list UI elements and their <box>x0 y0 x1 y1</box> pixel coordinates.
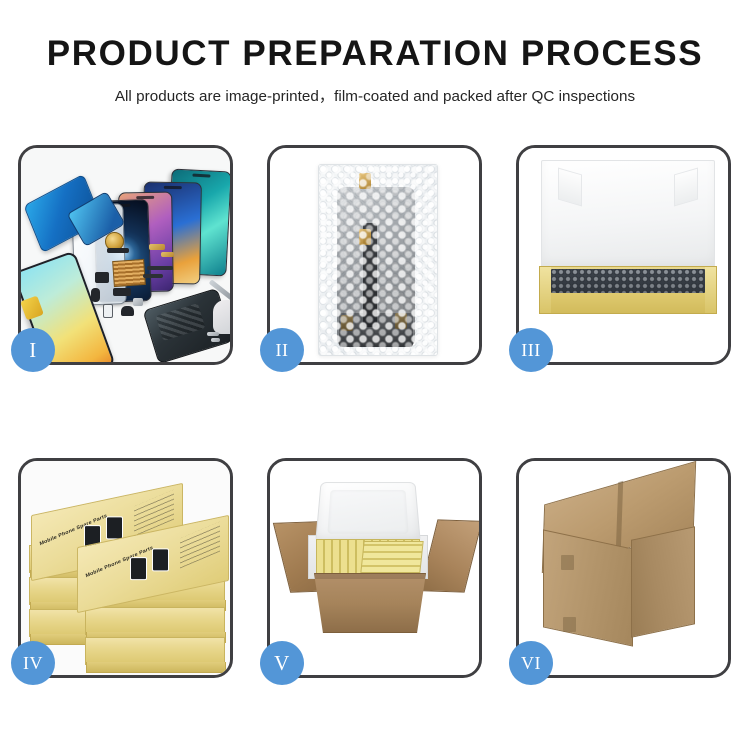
page-title: PRODUCT PREPARATION PROCESS <box>0 36 750 72</box>
step-badge-5: V <box>260 641 304 685</box>
box-label-spec-lines <box>180 522 220 569</box>
flex-cable-2 <box>143 274 163 278</box>
foam-lid <box>315 482 421 543</box>
panel-5-image <box>270 461 479 675</box>
kraft-tray <box>539 266 717 314</box>
step-badge-4: IV <box>11 641 55 685</box>
carton-front-face <box>543 529 633 646</box>
bubble-wrap-bag <box>318 164 438 356</box>
packed-boxes-row-2 <box>360 541 423 573</box>
panel-step-4[interactable]: Mobile Phone Spare Parts Mobile Phone Sp… <box>18 458 233 678</box>
step-badge-6: VI <box>509 641 553 685</box>
panel-step-5[interactable]: V <box>267 458 482 678</box>
panel-step-1[interactable]: I <box>18 145 233 365</box>
box-side-edge <box>86 662 226 673</box>
panel-6-image <box>519 461 728 675</box>
tray-lip-right <box>705 267 716 313</box>
step-badge-3: III <box>509 328 553 372</box>
wrapped-part-bottom <box>339 313 413 347</box>
notch-icon <box>164 186 182 189</box>
panel-2-image <box>270 148 479 362</box>
part-screw-1 <box>207 332 219 336</box>
part-speaker <box>121 306 134 316</box>
bubble-padding-inside <box>551 269 705 293</box>
header: PRODUCT PREPARATION PROCESS All products… <box>0 0 750 106</box>
connector-tape-mid <box>359 229 371 245</box>
carton-flap-right <box>420 519 479 592</box>
part-camera <box>91 288 100 302</box>
panel-step-2[interactable]: II <box>267 145 482 365</box>
white-box-lid <box>541 160 715 270</box>
connector-tape-top <box>359 173 371 189</box>
copper-grid-part <box>112 259 146 287</box>
carton-side-face <box>631 526 695 638</box>
part-chip-1 <box>95 272 109 283</box>
part-gold-1 <box>149 244 165 250</box>
part-strip-1 <box>107 248 129 253</box>
tray-lip-left <box>540 267 551 313</box>
panel-4-image: Mobile Phone Spare Parts Mobile Phone Sp… <box>21 461 230 675</box>
part-screw-2 <box>211 338 220 342</box>
part-sim-tray <box>103 304 113 318</box>
hand-holding-tool <box>213 300 230 334</box>
notch-icon <box>192 174 210 178</box>
panel-step-6[interactable]: VI <box>516 458 731 678</box>
lid-flap-left <box>558 168 582 207</box>
panel-3-image <box>519 148 728 362</box>
kraft-box-stack: Mobile Phone Spare Parts Mobile Phone Sp… <box>27 479 227 663</box>
process-step-grid: I II <box>18 145 732 730</box>
box-label-phone-image-2 <box>106 516 123 539</box>
carton-body <box>314 573 426 633</box>
carton-tab-upper <box>561 555 574 570</box>
panel-1-image <box>21 148 230 362</box>
part-gold-2 <box>161 252 174 257</box>
part-chip-2 <box>113 288 131 296</box>
carton-tab-lower <box>563 617 576 632</box>
box-label-phone-image-1 <box>130 557 147 580</box>
step-badge-2: II <box>260 328 304 372</box>
box-label-phone-image-2 <box>152 548 169 571</box>
panel-step-3[interactable]: III <box>516 145 731 365</box>
page-subtitle: All products are image-printed，film-coat… <box>0 84 750 106</box>
part-metal-bracket <box>133 298 143 306</box>
flex-cable-1 <box>147 266 173 270</box>
kraft-box-side <box>85 607 225 635</box>
step-badge-1: I <box>11 328 55 372</box>
kraft-box-side <box>85 637 225 665</box>
lid-flap-right <box>674 168 698 207</box>
